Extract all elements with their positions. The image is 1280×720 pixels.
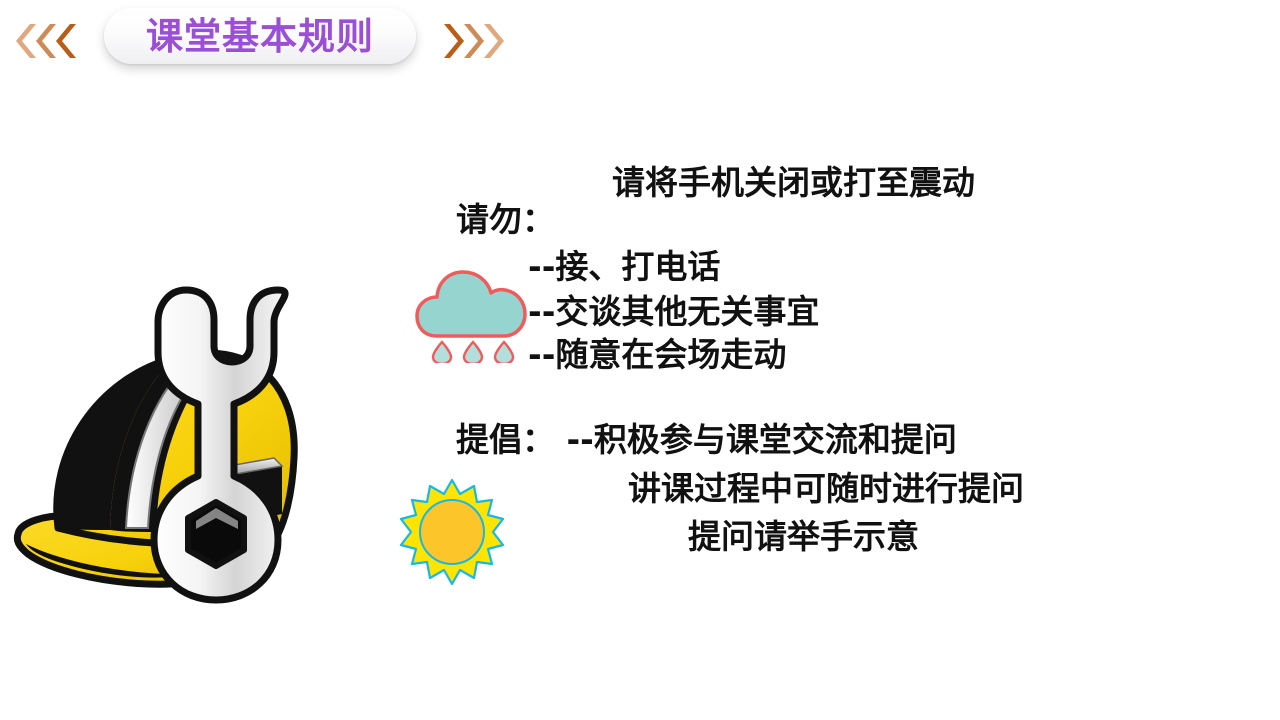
rain-cloud-icon (415, 258, 535, 363)
page-title-pill: 课堂基本规则 (104, 8, 416, 64)
rule-heading-advocate: 提倡： --积极参与课堂交流和提问 (456, 423, 957, 456)
rule-text-phone: 请将手机关闭或打至震动 (612, 166, 975, 199)
rule-text-no-walking: --随意在会场走动 (528, 338, 786, 371)
chevron-left-icon-3 (54, 24, 76, 58)
chevron-right-icon-2 (464, 24, 486, 58)
page-title: 课堂基本规则 (146, 18, 374, 55)
rule-text-raise-hand: 提问请举手示意 (688, 520, 919, 553)
hard-hat-and-wrench-icon (6, 276, 396, 606)
chevron-left-icon-1 (14, 24, 36, 58)
chevron-right-icon-3 (484, 24, 506, 58)
double-chevron-left-icon (14, 22, 74, 60)
double-chevron-right-icon (444, 22, 504, 60)
sun-icon (398, 478, 506, 586)
slide-canvas: 课堂基本规则 请将手机关闭或打至震动 请勿： --接、打电话 --交谈其他无关事… (0, 0, 1280, 720)
sun-core (420, 500, 484, 564)
raindrops (433, 342, 513, 363)
rule-text-ask-anytime: 讲课过程中可随时进行提问 (628, 472, 1024, 505)
rule-text-no-talking: --交谈其他无关事宜 (528, 295, 819, 328)
rule-text-no-calls: --接、打电话 (528, 250, 720, 283)
chevron-right-icon-1 (444, 24, 466, 58)
header-band: 课堂基本规则 (0, 0, 1280, 82)
rule-heading-donot: 请勿： (456, 203, 555, 236)
chevron-left-icon-2 (34, 24, 56, 58)
cloud-body (417, 272, 525, 336)
